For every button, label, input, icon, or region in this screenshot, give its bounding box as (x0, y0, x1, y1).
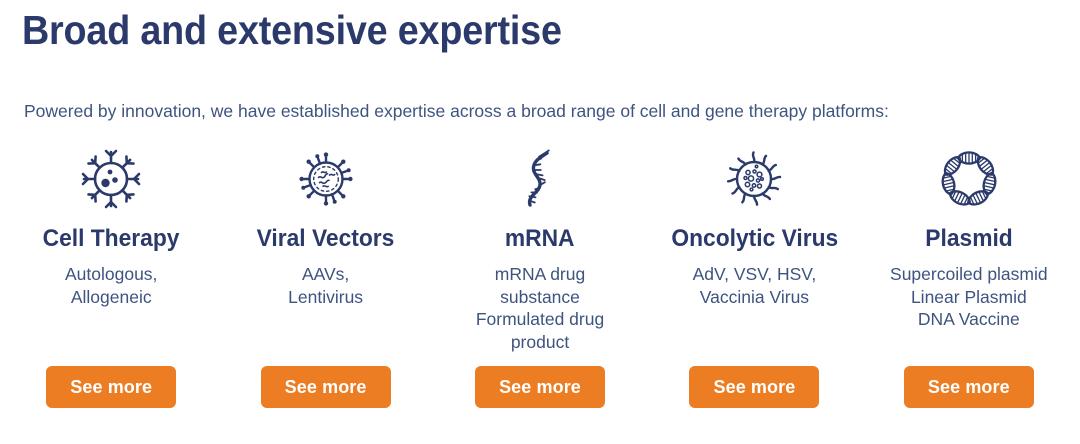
platform-columns: Cell Therapy Autologous, Allogeneic (4, 140, 1076, 353)
platform-description: AdV, VSV, HSV, Vaccinia Virus (693, 263, 817, 308)
viral-vector-icon (290, 140, 362, 218)
platform-column-plasmid: Plasmid Supercoiled plasmid Linear Plasm… (862, 140, 1076, 331)
button-cell-cell-therapy: See more (4, 366, 218, 408)
platform-column-cell-therapy: Cell Therapy Autologous, Allogeneic (4, 140, 218, 308)
see-more-button-oncolytic-virus[interactable]: See more (689, 366, 819, 408)
platform-title: Viral Vectors (257, 224, 395, 254)
see-more-button-mrna[interactable]: See more (475, 366, 605, 408)
mrna-strand-icon (504, 140, 576, 218)
platform-description: mRNA drug substance Formulated drug prod… (476, 263, 604, 353)
platform-title: Plasmid (925, 224, 1012, 254)
platform-column-viral-vectors: Viral Vectors AAVs, Lentivirus (218, 140, 432, 308)
platform-title: Cell Therapy (43, 224, 180, 254)
platform-title: Oncolytic Virus (671, 224, 838, 254)
page-title: Broad and extensive expertise (22, 6, 562, 54)
platform-description: Supercoiled plasmid Linear Plasmid DNA V… (890, 263, 1048, 331)
see-more-button-plasmid[interactable]: See more (904, 366, 1034, 408)
platform-title: mRNA (505, 224, 575, 254)
see-more-buttons-row: See more See more See more See more See … (4, 366, 1076, 408)
page-subtitle: Powered by innovation, we have establish… (24, 99, 889, 123)
see-more-button-cell-therapy[interactable]: See more (46, 366, 176, 408)
platform-description: AAVs, Lentivirus (288, 263, 363, 308)
oncolytic-virus-icon (718, 140, 790, 218)
button-cell-mrna: See more (433, 366, 647, 408)
button-cell-oncolytic-virus: See more (647, 366, 861, 408)
platform-column-mrna: mRNA mRNA drug substance Formulated drug… (433, 140, 647, 353)
platform-description: Autologous, Allogeneic (65, 263, 157, 308)
expertise-section: Broad and extensive expertise Powered by… (0, 0, 1080, 444)
button-cell-viral-vectors: See more (218, 366, 432, 408)
button-cell-plasmid: See more (862, 366, 1076, 408)
cell-therapy-icon (75, 140, 147, 218)
plasmid-dna-ring-icon (933, 140, 1005, 218)
platform-column-oncolytic-virus: Oncolytic Virus AdV, VSV, HSV, Vaccinia … (647, 140, 861, 308)
see-more-button-viral-vectors[interactable]: See more (261, 366, 391, 408)
